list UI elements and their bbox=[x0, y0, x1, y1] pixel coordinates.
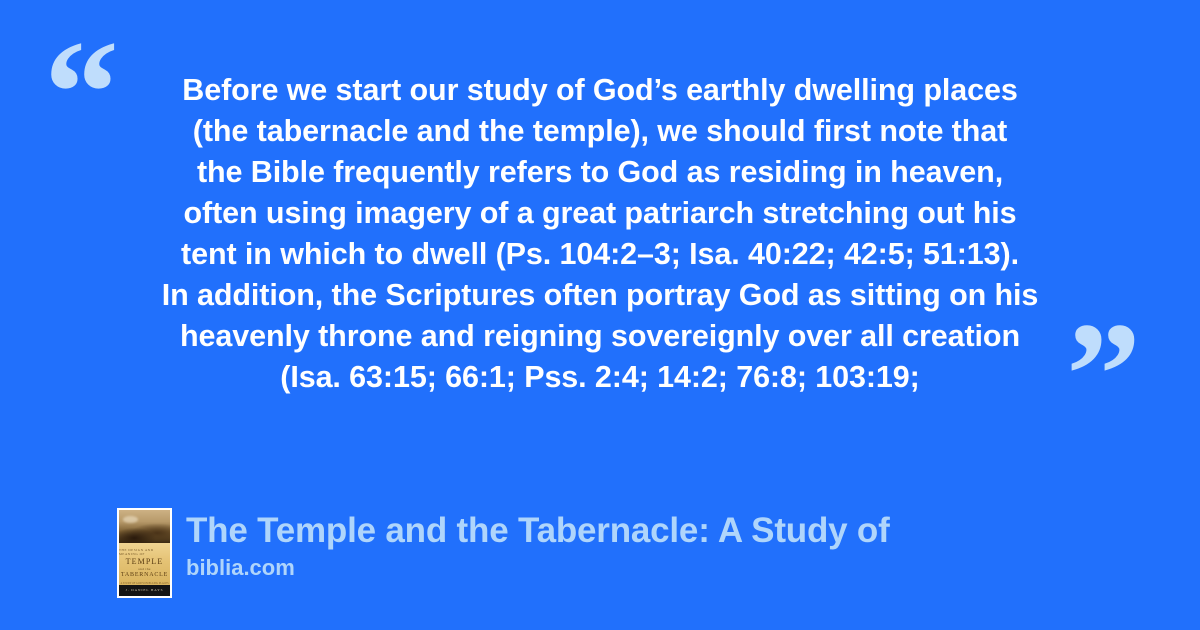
cover-subtitle-top: THE DESIGN AND MEANING OF bbox=[119, 548, 170, 556]
quote-line: tent in which to dwell (Ps. 104:2–3; Isa… bbox=[128, 234, 1072, 275]
quote-line: In addition, the Scriptures often portra… bbox=[128, 275, 1072, 316]
cover-title-tabernacle: TABERNACLE bbox=[121, 572, 168, 578]
cover-landscape-illustration bbox=[119, 510, 170, 543]
quote-line: often using imagery of a great patriarch… bbox=[128, 193, 1072, 234]
opening-quote-mark: “ bbox=[44, 18, 117, 168]
cover-author-band: J. DANIEL HAYS bbox=[119, 585, 170, 596]
closing-quote-mark: ” bbox=[1066, 300, 1139, 450]
site-name[interactable]: biblia.com bbox=[186, 554, 890, 582]
quote-line: heavenly throne and reigning sovereignly… bbox=[128, 316, 1072, 357]
quote-text: Before we start our study of God’s earth… bbox=[128, 70, 1072, 398]
quote-line: (the tabernacle and the temple), we shou… bbox=[128, 111, 1072, 152]
quote-card-page: { "theme": { "background": "#2170FC", "q… bbox=[0, 0, 1200, 630]
cover-conjunction: and the bbox=[138, 567, 151, 571]
quote-card: “ Before we start our study of God’s ear… bbox=[0, 0, 1200, 470]
book-title[interactable]: The Temple and the Tabernacle: A Study o… bbox=[186, 510, 890, 552]
quote-line: Before we start our study of God’s earth… bbox=[128, 70, 1072, 111]
source-footer: THE DESIGN AND MEANING OF TEMPLE and the… bbox=[117, 508, 890, 598]
cover-title-temple: TEMPLE bbox=[126, 557, 164, 566]
book-cover-art: THE DESIGN AND MEANING OF TEMPLE and the… bbox=[119, 510, 170, 596]
book-cover-thumbnail: THE DESIGN AND MEANING OF TEMPLE and the… bbox=[117, 508, 172, 598]
quote-line: the Bible frequently refers to God as re… bbox=[128, 152, 1072, 193]
cover-title-block: THE DESIGN AND MEANING OF TEMPLE and the… bbox=[119, 543, 170, 585]
quote-line: (Isa. 63:15; 66:1; Pss. 2:4; 14:2; 76:8;… bbox=[128, 357, 1072, 398]
source-info: The Temple and the Tabernacle: A Study o… bbox=[186, 508, 890, 582]
